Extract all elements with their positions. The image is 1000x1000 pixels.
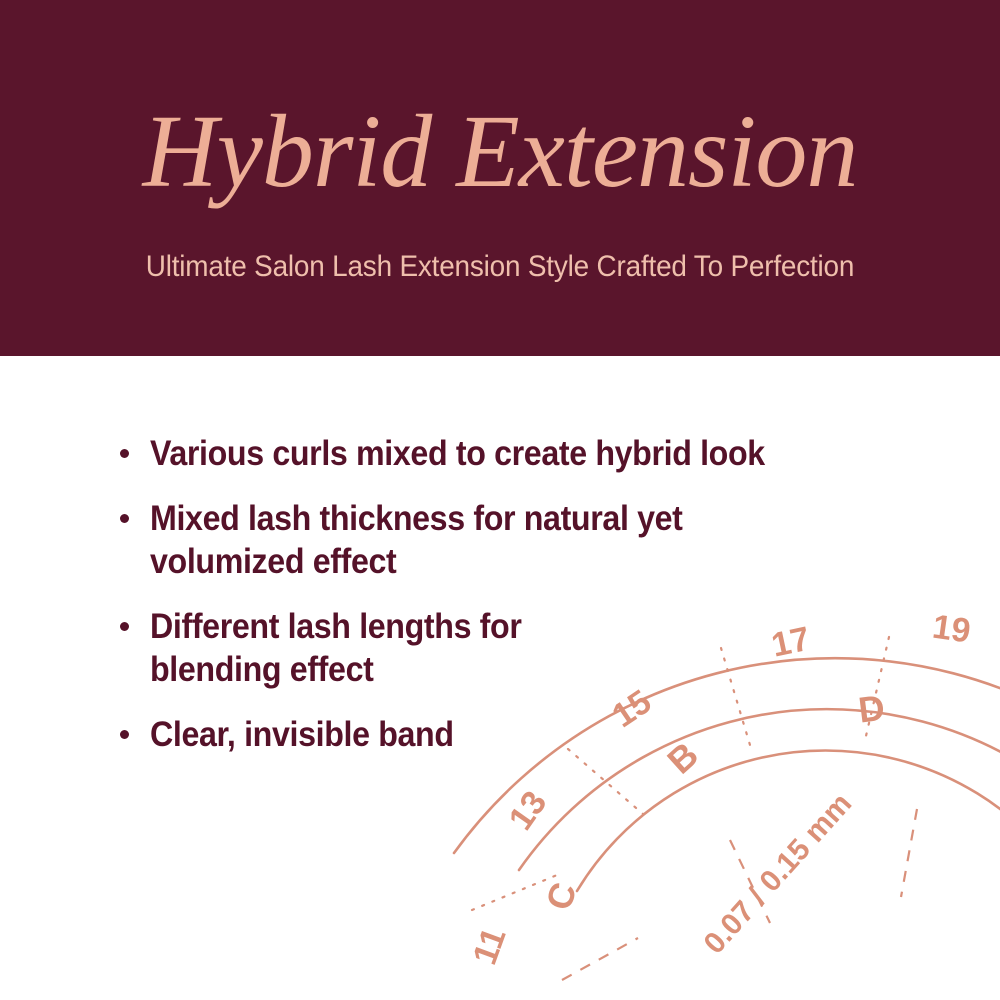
ring-label-curl: C: [538, 877, 585, 914]
list-item: Clear, invisible band: [118, 713, 908, 756]
bullet-dot-icon: [120, 449, 129, 458]
poster-canvas: Hybrid Extension Ultimate Salon Lash Ext…: [0, 0, 1000, 1000]
ring-middle-inner-edge: [577, 750, 1000, 891]
list-item: Mixed lash thickness for natural yet vol…: [118, 497, 908, 583]
bullet-dot-icon: [120, 622, 129, 631]
divider-dotted: [472, 873, 562, 910]
page-subtitle: Ultimate Salon Lash Extension Style Craf…: [35, 248, 965, 286]
ring-label-length: 11: [466, 923, 514, 970]
list-item: Various curls mixed to create hybrid loo…: [118, 432, 908, 475]
divider-dashed: [730, 840, 770, 923]
feature-text: Various curls mixed to create hybrid loo…: [150, 432, 847, 475]
bullet-dot-icon: [120, 514, 129, 523]
list-item: Different lash lengths for blending effe…: [118, 605, 908, 691]
bullet-dot-icon: [120, 730, 129, 739]
divider-dotted: [568, 749, 643, 814]
feature-text: Mixed lash thickness for natural yet vol…: [150, 497, 847, 583]
feature-text: Different lash lengths for blending effe…: [150, 605, 847, 691]
feature-text: Clear, invisible band: [150, 713, 847, 756]
page-title: Hybrid Extension: [0, 96, 1000, 208]
ring-label-thickness: 0.07 / 0.15 mm: [698, 787, 859, 960]
divider-dashed: [901, 809, 917, 897]
feature-list: Various curls mixed to create hybrid loo…: [118, 432, 908, 756]
ring-label-length: 13: [502, 784, 555, 837]
ring-label-length: 19: [930, 608, 973, 651]
divider-dashed: [562, 938, 638, 980]
header-band: Hybrid Extension Ultimate Salon Lash Ext…: [0, 0, 1000, 356]
